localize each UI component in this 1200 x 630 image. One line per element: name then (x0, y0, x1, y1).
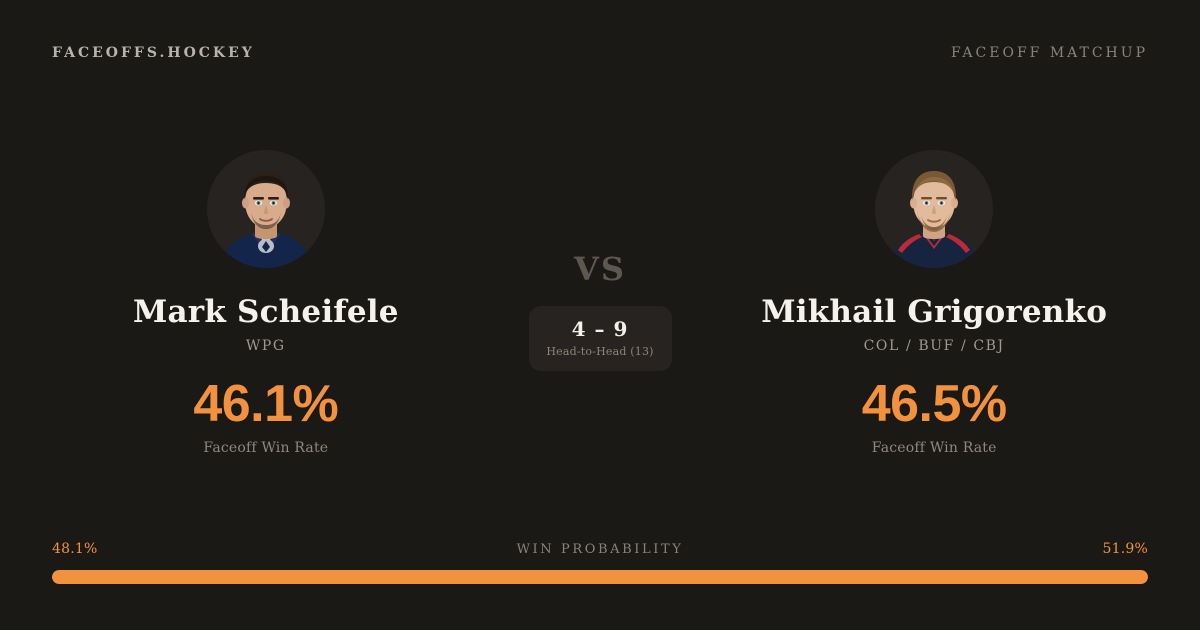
player-left: Mark Scheifele WPG 46.1% Faceoff Win Rat… (23, 150, 509, 456)
win-probability-right-pct: 51.9% (1088, 541, 1148, 557)
player-right: Mikhail Grigorenko COL / BUF / CBJ 46.5%… (691, 150, 1177, 456)
win-probability-labels: 48.1% WIN PROBABILITY 51.9% (52, 541, 1148, 557)
versus-block: VS 4 – 9 Head-to-Head (13) (509, 150, 692, 371)
player-name: Mark Scheifele (133, 294, 399, 330)
head-to-head-card: 4 – 9 Head-to-Head (13) (529, 306, 672, 371)
player-faceoff-label: Faceoff Win Rate (203, 440, 328, 456)
head-to-head-label: Head-to-Head (13) (546, 345, 653, 358)
vs-label: VS (574, 250, 626, 288)
faceoff-matchup-card: FACEOFFS.HOCKEY FACEOFF MATCHUP (0, 0, 1200, 630)
brand-logo: FACEOFFS.HOCKEY (52, 45, 255, 61)
win-probability-track (52, 570, 1148, 584)
matchup-row: Mark Scheifele WPG 46.1% Faceoff Win Rat… (0, 150, 1200, 480)
player-headshot-scheifele (207, 150, 325, 268)
win-probability-left-pct: 48.1% (52, 541, 112, 557)
player-team: WPG (246, 338, 286, 354)
header: FACEOFFS.HOCKEY FACEOFF MATCHUP (0, 0, 1200, 105)
player-faceoff-pct: 46.1% (193, 376, 338, 432)
win-probability-fill (52, 570, 1148, 584)
player-team: COL / BUF / CBJ (864, 338, 1005, 354)
player-faceoff-label: Faceoff Win Rate (872, 440, 997, 456)
win-probability-section: 48.1% WIN PROBABILITY 51.9% (52, 541, 1148, 584)
section-label: FACEOFF MATCHUP (951, 45, 1148, 61)
player-headshot-grigorenko (875, 150, 993, 268)
head-to-head-score: 4 – 9 (572, 318, 629, 340)
player-name: Mikhail Grigorenko (761, 294, 1107, 330)
win-probability-title: WIN PROBABILITY (517, 542, 684, 557)
player-faceoff-pct: 46.5% (862, 376, 1007, 432)
